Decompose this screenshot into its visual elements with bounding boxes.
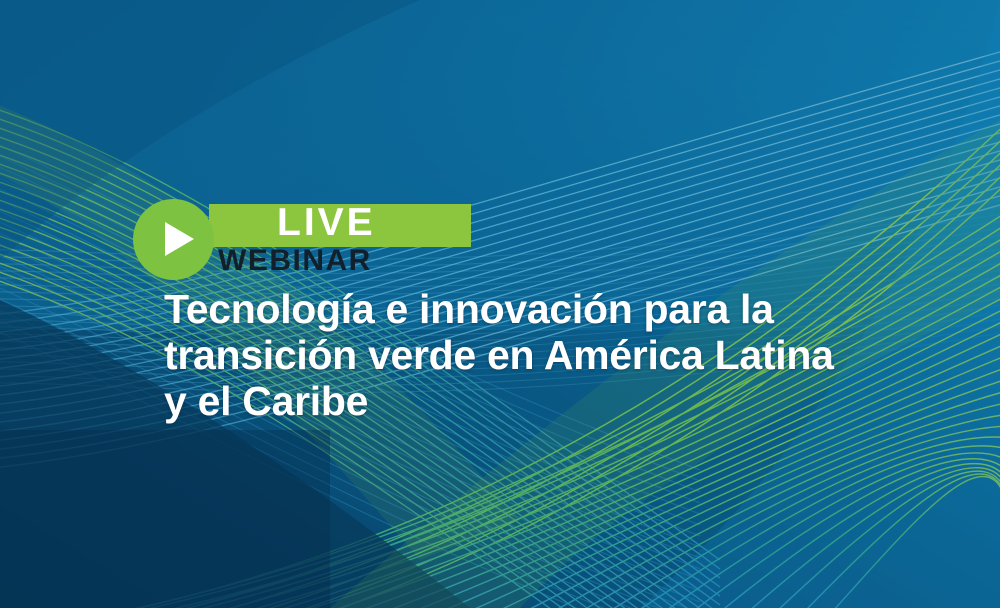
webinar-label: WEBINAR [218, 244, 372, 278]
page-title: Tecnología e innovación para la transici… [164, 286, 964, 424]
live-webinar-badge: LIVE WEBINAR [133, 199, 553, 281]
title-line-3: y el Caribe [164, 378, 964, 424]
live-label: LIVE [277, 201, 376, 244]
play-icon [165, 222, 194, 256]
title-line-1: Tecnología e innovación para la [164, 286, 964, 332]
webinar-banner: LIVE WEBINAR Tecnología e innovación par… [0, 0, 1000, 608]
title-line-2: transición verde en América Latina [164, 332, 964, 378]
play-button-circle[interactable] [133, 199, 214, 280]
